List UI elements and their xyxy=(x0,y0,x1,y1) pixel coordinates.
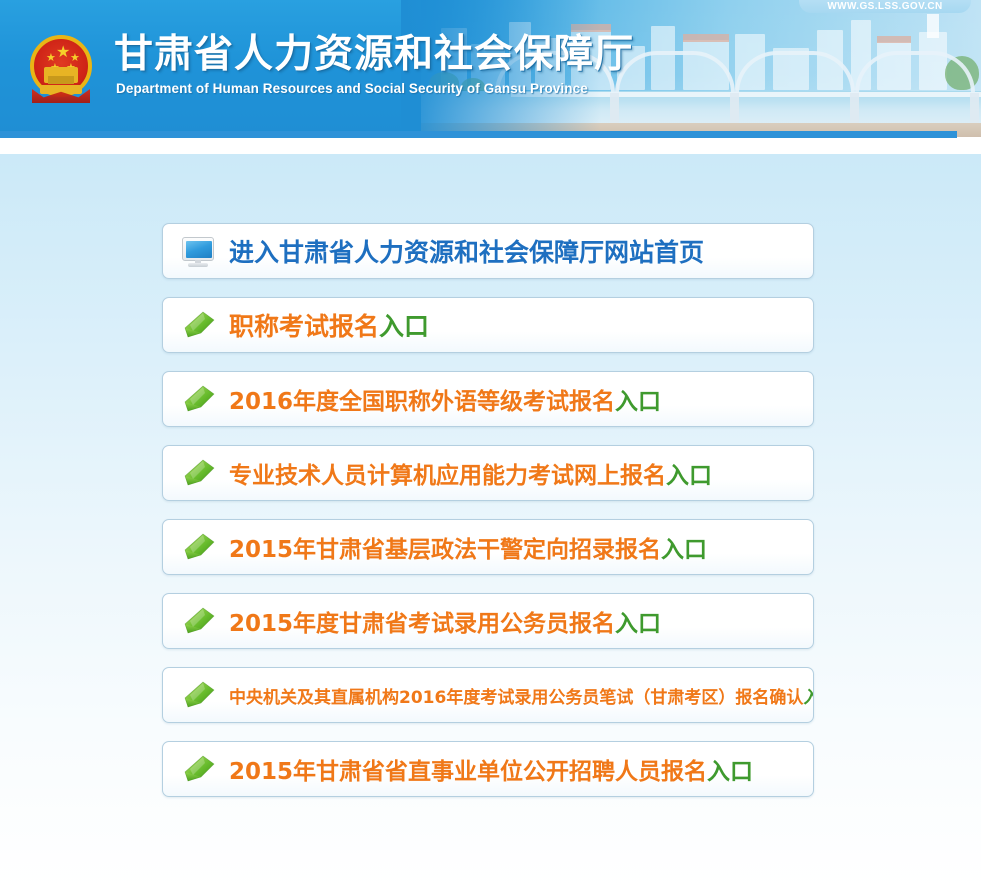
green-arrow-icon-svg xyxy=(181,384,215,414)
green-arrow-icon xyxy=(181,308,215,342)
site-url-tab: WWW.GS.LSS.GOV.CN xyxy=(799,0,971,13)
entry-text-main: 职称考试报名 xyxy=(229,312,379,341)
green-arrow-glyph xyxy=(181,680,215,715)
entry-label-central-agencies-civil-servant-2016-confirm: 中央机关及其直属机构2016年度考试录用公务员笔试（甘肃考区）报名确认入口 xyxy=(229,683,814,708)
entry-text-main: 专业技术人员计算机应用能力考试网上报名 xyxy=(229,463,666,489)
entry-label-home: 进入甘肃省人力资源和社会保障厅网站首页 xyxy=(229,233,704,269)
green-arrow-icon xyxy=(181,530,215,564)
entry-text-tail: 入口 xyxy=(661,537,707,563)
monitor-body xyxy=(182,237,214,261)
entry-link-grassroots-police-recruitment-2015[interactable]: 2015年甘肃省基层政法干警定向招录报名入口 xyxy=(162,519,814,575)
entry-text-tail: 入口 xyxy=(707,759,753,785)
green-arrow-glyph xyxy=(181,310,215,345)
green-arrow-icon-svg xyxy=(181,532,215,562)
entry-text-tail: 入口 xyxy=(379,312,429,341)
green-arrow-glyph xyxy=(181,384,215,419)
green-arrow-icon-svg xyxy=(181,754,215,784)
green-arrow-icon xyxy=(181,752,215,786)
entry-label-computer-ability-exam-online: 专业技术人员计算机应用能力考试网上报名入口 xyxy=(229,456,712,490)
green-arrow-icon-svg xyxy=(181,606,215,636)
monitor-icon xyxy=(181,234,215,268)
entry-link-civil-servant-exam-2015[interactable]: 2015年度甘肃省考试录用公务员报名入口 xyxy=(162,593,814,649)
green-arrow-icon xyxy=(181,604,215,638)
content-area: 进入甘肃省人力资源和社会保障厅网站首页职称考试报名入口2016年度全国职称外语等… xyxy=(0,154,981,889)
entry-label-provincial-institutions-recruitment-2015: 2015年甘肃省省直事业单位公开招聘人员报名入口 xyxy=(229,752,753,786)
entry-link-central-agencies-civil-servant-2016-confirm[interactable]: 中央机关及其直属机构2016年度考试录用公务员笔试（甘肃考区）报名确认入口 xyxy=(162,667,814,723)
green-arrow-icon-svg xyxy=(181,458,215,488)
entry-text-main: 2015年度甘肃省考试录用公务员报名 xyxy=(229,611,615,637)
national-emblem-icon: ★ ★ ★ ★ ★ xyxy=(26,27,96,105)
entry-text-main: 2015年甘肃省省直事业单位公开招聘人员报名 xyxy=(229,759,707,785)
entry-link-home[interactable]: 进入甘肃省人力资源和社会保障厅网站首页 xyxy=(162,223,814,279)
entry-text-tail: 入口 xyxy=(615,389,661,415)
site-title-en: Department of Human Resources and Social… xyxy=(116,81,588,96)
entry-text-tail: 入口 xyxy=(615,611,661,637)
entry-text-tail: 入口 xyxy=(803,688,814,708)
monitor-foot xyxy=(188,263,208,267)
green-arrow-glyph xyxy=(181,606,215,641)
entry-label-grassroots-police-recruitment-2015: 2015年甘肃省基层政法干警定向招录报名入口 xyxy=(229,530,707,564)
entry-link-list: 进入甘肃省人力资源和社会保障厅网站首页职称考试报名入口2016年度全国职称外语等… xyxy=(162,223,814,797)
green-arrow-icon xyxy=(181,678,215,712)
green-arrow-glyph xyxy=(181,532,215,567)
entry-text-main: 2016年度全国职称外语等级考试报名 xyxy=(229,389,615,415)
entry-link-foreign-language-level-exam-2016[interactable]: 2016年度全国职称外语等级考试报名入口 xyxy=(162,371,814,427)
green-arrow-icon-svg xyxy=(181,310,215,340)
site-title-cn: 甘肃省人力资源和社会保障厅 xyxy=(114,32,634,78)
site-header-banner: WWW.GS.LSS.GOV.CN ★ ★ ★ ★ ★ 甘肃省人力资源和社会保障… xyxy=(0,0,981,137)
green-arrow-icon-svg xyxy=(181,680,215,710)
green-arrow-icon xyxy=(181,456,215,490)
site-url-text: WWW.GS.LSS.GOV.CN xyxy=(827,1,942,12)
entry-text-main: 2015年甘肃省基层政法干警定向招录报名 xyxy=(229,537,661,563)
entry-text-tail: 入口 xyxy=(666,463,712,489)
entry-label-foreign-language-level-exam-2016: 2016年度全国职称外语等级考试报名入口 xyxy=(229,382,661,416)
monitor-screen xyxy=(186,241,212,258)
entry-label-civil-servant-exam-2015: 2015年度甘肃省考试录用公务员报名入口 xyxy=(229,604,661,638)
green-arrow-glyph xyxy=(181,458,215,493)
page-root: WWW.GS.LSS.GOV.CN ★ ★ ★ ★ ★ 甘肃省人力资源和社会保障… xyxy=(0,0,981,889)
entry-link-computer-ability-exam-online[interactable]: 专业技术人员计算机应用能力考试网上报名入口 xyxy=(162,445,814,501)
entry-link-title-exam-registration[interactable]: 职称考试报名入口 xyxy=(162,297,814,353)
banner-bottom-strip xyxy=(0,131,957,138)
entry-text-main: 中央机关及其直属机构2016年度考试录用公务员笔试（甘肃考区）报名确认 xyxy=(229,688,803,708)
green-arrow-icon xyxy=(181,382,215,416)
entry-text-main: 进入甘肃省人力资源和社会保障厅网站首页 xyxy=(229,238,704,267)
footer-space xyxy=(0,829,981,889)
green-arrow-glyph xyxy=(181,754,215,789)
entry-label-title-exam-registration: 职称考试报名入口 xyxy=(229,307,429,343)
entry-link-provincial-institutions-recruitment-2015[interactable]: 2015年甘肃省省直事业单位公开招聘人员报名入口 xyxy=(162,741,814,797)
